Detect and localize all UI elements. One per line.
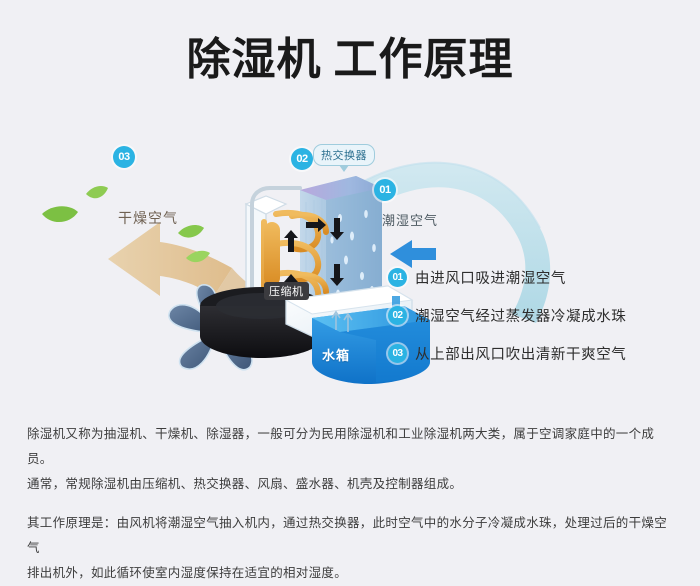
label-heat-exchanger: 热交换器 <box>313 144 375 166</box>
label-compressor: 压缩机 <box>264 282 309 300</box>
paragraph-1-line-1: 除湿机又称为抽湿机、干燥机、除湿器，一般可分为民用除湿机和工业除湿机两大类，属于… <box>27 422 677 472</box>
refrigerant-receiver <box>264 222 280 286</box>
paragraph-2-line-1: 其工作原理是：由风机将潮湿空气抽入机内，通过热交换器，此时空气中的水分子冷凝成水… <box>27 511 677 561</box>
label-dry-air: 干燥空气 <box>118 208 178 228</box>
steps-list: 01 由进风口吸进潮湿空气 02 潮湿空气经过蒸发器冷凝成水珠 03 从上部出风… <box>388 258 688 372</box>
step-badge-01: 01 <box>388 268 407 287</box>
page-title-part2: 工作原理 <box>334 35 514 84</box>
page-title-part1: 除湿机 <box>187 35 322 84</box>
body-copy: 除湿机又称为抽湿机、干燥机、除湿器，一般可分为民用除湿机和工业除湿机两大类，属于… <box>27 422 677 586</box>
diagram-badge-02: 02 <box>291 148 313 170</box>
step-text-03: 从上部出风口吹出清新干爽空气 <box>415 343 626 364</box>
step-badge-02: 02 <box>388 306 407 325</box>
paragraph-1-line-2: 通常，常规除湿机由压缩机、热交换器、风扇、盛水器、机壳及控制器组成。 <box>27 472 677 497</box>
step-text-02: 潮湿空气经过蒸发器冷凝成水珠 <box>415 305 626 326</box>
label-humid-air: 潮湿空气 <box>382 210 438 229</box>
step-badge-03: 03 <box>388 344 407 363</box>
paragraph-gap <box>27 497 677 511</box>
diagram-badge-01: 01 <box>374 179 396 201</box>
paragraph-2-line-2: 排出机外，如此循环使室内湿度保持在适宜的相对湿度。 <box>27 561 677 586</box>
label-water-tank: 水箱 <box>322 345 350 364</box>
list-item: 02 潮湿空气经过蒸发器冷凝成水珠 <box>388 296 688 334</box>
diagram-badge-03: 03 <box>113 146 135 168</box>
list-item: 03 从上部出风口吹出清新干爽空气 <box>388 334 688 372</box>
list-item: 01 由进风口吸进潮湿空气 <box>388 258 688 296</box>
page-title: 除湿机工作原理 <box>0 34 700 86</box>
step-text-01: 由进风口吸进潮湿空气 <box>415 267 566 288</box>
